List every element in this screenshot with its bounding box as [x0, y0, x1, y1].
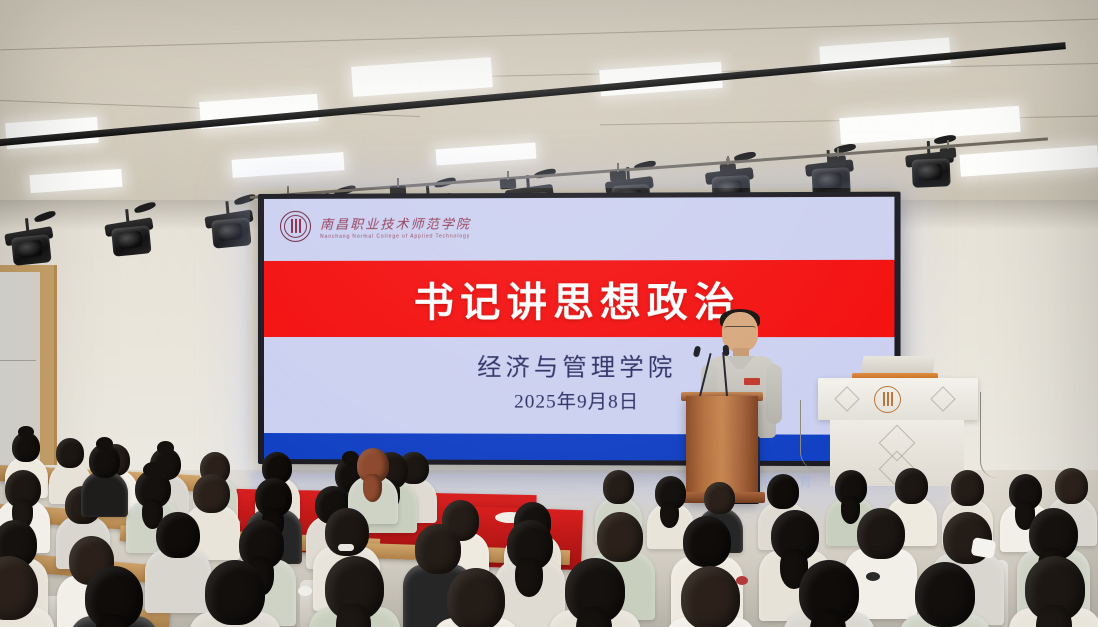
audience-head	[156, 512, 199, 558]
audience-member	[1016, 556, 1094, 627]
audience-member	[76, 566, 152, 627]
slide-organization: 经济与管理学院	[264, 347, 894, 383]
audience-head	[951, 470, 984, 506]
door-detail	[0, 360, 36, 361]
rail-stem	[727, 156, 729, 165]
lectern-cable	[800, 400, 823, 470]
rail-stem	[617, 163, 619, 172]
school-name-chinese: 南昌职业技术师范学院	[320, 213, 471, 233]
audience-member	[438, 568, 514, 627]
school-name-english: Nanchang Normal College of Applied Techn…	[320, 233, 471, 239]
rail-spotlight	[610, 171, 627, 182]
audience-head	[205, 560, 265, 625]
ponytail	[1036, 605, 1072, 627]
stage-light	[206, 207, 255, 251]
rail-stem	[507, 171, 509, 180]
slide-title: 书记讲思想政治	[264, 260, 894, 337]
hair-accessory	[866, 572, 880, 581]
speaker-badge	[744, 378, 760, 385]
audience-head	[193, 474, 230, 513]
audience-member	[0, 556, 47, 627]
school-seal-icon	[280, 211, 311, 242]
audience-member	[790, 560, 868, 627]
audience-member	[316, 556, 393, 627]
lectern-upper	[818, 378, 978, 420]
hair-accessory	[298, 586, 312, 596]
rail-stem	[837, 148, 839, 157]
rail-spotlight	[940, 148, 957, 159]
audience-member	[906, 562, 984, 627]
rail-spotlight	[500, 178, 517, 189]
hair-tie	[338, 544, 354, 551]
face-mask	[971, 537, 997, 559]
audience-head	[603, 470, 634, 504]
audience-member	[352, 448, 394, 514]
audience-head	[56, 438, 84, 468]
lectern-cable	[980, 392, 997, 478]
rail-stem	[397, 178, 399, 187]
hair-bun	[143, 462, 163, 478]
audience-member	[196, 560, 274, 627]
audience-member	[556, 558, 634, 627]
audience-head	[683, 516, 731, 567]
lectern-diamond-motif	[930, 386, 955, 411]
audience-head	[597, 512, 643, 562]
slide-title-text: 书记讲思想政治	[414, 269, 741, 328]
rail-stem	[947, 140, 949, 149]
audience-head	[1055, 468, 1088, 504]
audience-head	[415, 524, 461, 574]
hair-accessory	[736, 576, 748, 585]
audience-head	[681, 566, 740, 627]
audience-head	[895, 468, 928, 504]
audience-head	[447, 568, 505, 627]
audience-head	[767, 474, 799, 509]
ponytail	[363, 474, 382, 502]
audience-member	[672, 566, 749, 627]
stage-light	[6, 224, 56, 269]
rail-spotlight	[720, 163, 737, 174]
ponytail	[336, 604, 371, 627]
microphone-head-right	[723, 345, 730, 356]
audience-head	[857, 508, 905, 559]
lectern-diamond-motif	[834, 386, 859, 411]
lectern-crest-icon	[874, 386, 901, 413]
audience-head	[915, 562, 975, 627]
audience-head	[704, 482, 734, 514]
rail-spotlight	[830, 155, 847, 166]
hair-bun	[96, 437, 113, 451]
hair-bun	[18, 426, 34, 438]
audience-member	[84, 444, 125, 508]
speaker-glasses	[724, 326, 756, 334]
hair-bun	[157, 441, 174, 454]
speaker-arm-right	[766, 364, 782, 424]
audience-torso	[81, 471, 129, 517]
lecture-hall-photo: 南昌职业技术师范学院 Nanchang Normal College of Ap…	[0, 0, 1098, 627]
stage-light	[106, 216, 156, 260]
school-logo: 南昌职业技术师范学院 Nanchang Normal College of Ap…	[280, 210, 471, 242]
